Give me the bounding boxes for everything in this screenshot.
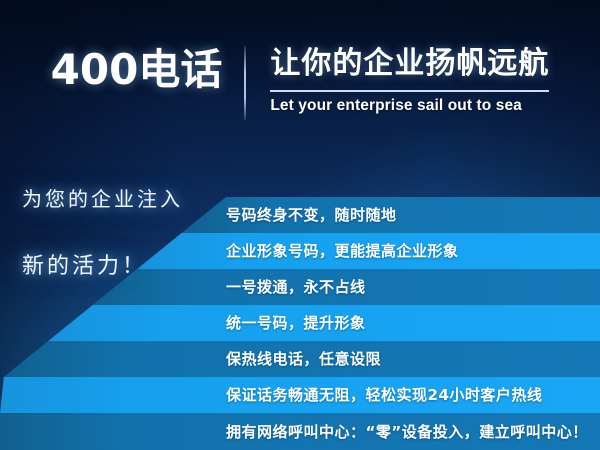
tagline-english: Let your enterprise sail out to sea (270, 96, 549, 116)
feature-label: 保证话务畅通无阻，轻松实现24小时客户热线 (226, 386, 542, 404)
feature-label: 号码终身不变，随时随地 (226, 206, 397, 224)
headline-line-1: 为您的企业注入 (22, 186, 222, 212)
tagline-block: 让你的企业扬帆远航 Let your enterprise sail out t… (246, 44, 549, 120)
brand-title: 400电话 (51, 44, 245, 120)
feature-label: 一号拨通，永不占线 (226, 278, 366, 296)
stripe-row[interactable]: 保证话务畅通无阻，轻松实现24小时客户热线 (0, 377, 600, 413)
tagline-rule-divider (270, 90, 549, 92)
feature-label: 拥有网络呼叫中心：“零”设备投入，建立呼叫中心！ (226, 423, 588, 441)
feature-label: 统一号码，提升形象 (226, 314, 366, 332)
headline-line-2: 新的活力！ (22, 254, 222, 280)
header-inner: 400电话 让你的企业扬帆远航 Let your enterprise sail… (51, 44, 550, 120)
left-headline: 为您的企业注入 新的活力！ (22, 186, 222, 280)
stripe-row[interactable]: 保热线电话，任意设限 (0, 341, 600, 377)
header-lockup: 400电话 让你的企业扬帆远航 Let your enterprise sail… (0, 44, 600, 144)
feature-label: 保热线电话，任意设限 (226, 350, 381, 368)
stripe-row[interactable]: 拥有网络呼叫中心：“零”设备投入，建立呼叫中心！ (0, 413, 600, 450)
feature-label: 企业形象号码，更能提高企业形象 (226, 242, 459, 260)
stripe-row[interactable]: 统一号码，提升形象 (0, 305, 600, 341)
tagline-chinese: 让你的企业扬帆远航 (270, 44, 549, 84)
promo-banner: 号码终身不变，随时随地 企业形象号码，更能提高企业形象 一号拨通，永不占线 统一… (0, 0, 600, 450)
